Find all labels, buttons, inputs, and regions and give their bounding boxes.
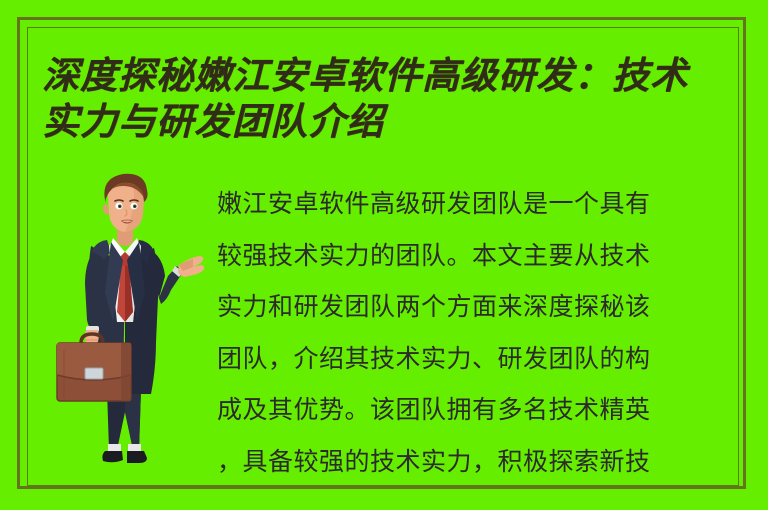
body-paragraph: 嫩江安卓软件高级研发团队是一个具有 较强技术实力的团队。本文主要从技术 实力和研… xyxy=(217,178,737,487)
title-line-2: 实力与研发团队介绍 xyxy=(42,98,742,144)
body-line-3: 实力和研发团队两个方面来深度探秘该 xyxy=(217,281,737,333)
poster-canvas: 深度探秘嫩江安卓软件高级研发：技术 实力与研发团队介绍 xyxy=(0,0,768,510)
body-line-2: 较强技术实力的团队。本文主要从技术 xyxy=(217,230,737,282)
businessman-illustration xyxy=(55,172,205,477)
body-line-1: 嫩江安卓软件高级研发团队是一个具有 xyxy=(217,178,737,230)
page-title: 深度探秘嫩江安卓软件高级研发：技术 实力与研发团队介绍 xyxy=(42,52,742,144)
body-line-6: ，具备较强的技术实力，积极探索新技 xyxy=(217,436,737,488)
body-line-5: 成及其优势。该团队拥有多名技术精英 xyxy=(217,384,737,436)
body-line-4: 团队，介绍其技术实力、研发团队的构 xyxy=(217,333,737,385)
title-line-1: 深度探秘嫩江安卓软件高级研发：技术 xyxy=(42,52,742,98)
